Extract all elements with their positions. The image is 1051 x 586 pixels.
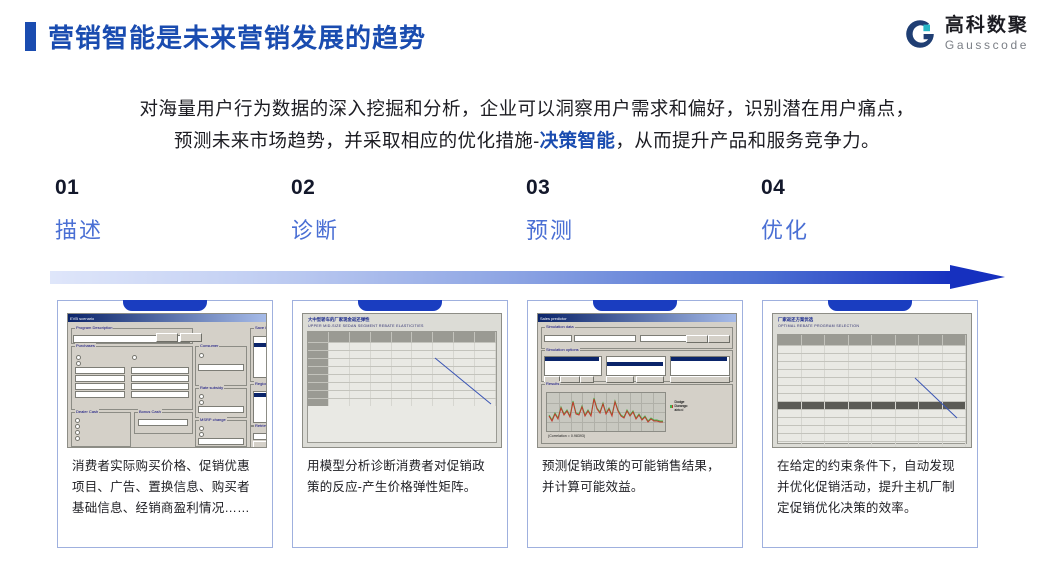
gausscode-logo-icon	[903, 17, 937, 51]
step-02-number: 02	[291, 176, 521, 200]
step-02-label: 诊断	[291, 213, 521, 245]
mini-window-title: Sales predictor	[540, 316, 567, 321]
brand-logo: 高科数聚 Gausscode	[903, 16, 1029, 51]
screenshot-elasticity-matrix: 大中型轿车的厂家现金返还弹性 UPPER MID-SIZE SEDAN SEGM…	[302, 313, 502, 448]
card-describe[interactable]: EVB scenario Program Description Purchas…	[57, 300, 273, 548]
card-predict[interactable]: Sales predictor Simulation data Simulati…	[527, 300, 743, 548]
table-title-en: OPTIMAL REBATE PROGRAM SELECTION	[778, 324, 859, 328]
card-tab	[123, 300, 207, 311]
step-01-number: 01	[55, 176, 285, 200]
card-diagnose[interactable]: 大中型轿车的厂家现金返还弹性 UPPER MID-SIZE SEDAN SEGM…	[292, 300, 508, 548]
mini-window-title: EVB scenario	[70, 316, 94, 321]
card-tab	[593, 300, 677, 311]
chart-legend-item: Dodge Durango actual	[670, 400, 690, 412]
chart-lines	[547, 393, 665, 431]
card-tab	[828, 300, 912, 311]
step-01: 01 描述	[55, 176, 285, 245]
title-text: 营销智能是未来营销发展的趋势	[48, 18, 426, 55]
card-optimize[interactable]: 厂家返还方案优选 OPTIMAL REBATE PROGRAM SELECTIO…	[762, 300, 978, 548]
progress-arrow	[50, 265, 1005, 289]
step-03-number: 03	[526, 176, 756, 200]
card-caption: 消费者实际购买价格、促销优惠项目、广告、置换信息、购买者基础信息、经销商盈利情况…	[72, 456, 260, 519]
card-caption: 在给定的约束条件下，自动发现并优化促销活动，提升主机厂制定促销优化决策的效率。	[777, 456, 965, 519]
intro-line-1: 对海量用户行为数据的深入挖掘和分析，企业可以洞察用户需求和偏好，识别潜在用户痛点…	[140, 98, 915, 119]
step-labels: 01 描述 02 诊断 03 预测 04 优化	[55, 176, 1005, 254]
logo-name-en: Gausscode	[945, 39, 1029, 51]
logo-name-cn: 高科数聚	[945, 16, 1029, 35]
step-04: 04 优化	[761, 176, 991, 245]
chart-annotation: (Correlation = 0.98393)	[548, 434, 585, 438]
page-title: 营销智能是未来营销发展的趋势	[25, 18, 426, 55]
arrow-bar	[50, 271, 955, 284]
step-03-label: 预测	[526, 213, 756, 245]
screenshot-optimal-table: 厂家返还方案优选 OPTIMAL REBATE PROGRAM SELECTIO…	[772, 313, 972, 448]
matrix-title-cn: 大中型轿车的厂家现金返还弹性	[308, 317, 369, 323]
intro-paragraph: 对海量用户行为数据的深入挖掘和分析，企业可以洞察用户需求和偏好，识别潜在用户痛点…	[52, 93, 1002, 157]
arrow-head-icon	[950, 265, 1005, 289]
card-tab	[358, 300, 442, 311]
intro-line-2a: 预测未来市场趋势，并采取相应的优化措施-	[174, 130, 540, 151]
matrix-title-en: UPPER MID-SIZE SEDAN SEGMENT REBATE ELAS…	[308, 324, 424, 328]
title-accent-bar	[25, 22, 36, 51]
step-04-number: 04	[761, 176, 991, 200]
card-caption: 用模型分析诊断消费者对促销政策的反应-产生价格弹性矩阵。	[307, 456, 495, 498]
intro-line-2b: ，从而提升产品和服务竞争力。	[615, 130, 880, 151]
table-callout-line	[913, 376, 963, 422]
screenshot-dialog-form: EVB scenario Program Description Purchas…	[67, 313, 267, 448]
card-row: EVB scenario Program Description Purchas…	[57, 300, 997, 550]
intro-highlight: 决策智能	[540, 130, 616, 151]
step-02: 02 诊断	[291, 176, 521, 245]
step-01-label: 描述	[55, 213, 285, 245]
step-03: 03 预测	[526, 176, 756, 245]
table-title-cn: 厂家返还方案优选	[778, 317, 813, 323]
screenshot-simulation-chart: Sales predictor Simulation data Simulati…	[537, 313, 737, 448]
step-04-label: 优化	[761, 213, 991, 245]
slide: 营销智能是未来营销发展的趋势 高科数聚 Gausscode 对海量用户行为数据的…	[0, 0, 1051, 586]
matrix-callout-line	[433, 356, 495, 408]
card-caption: 预测促销政策的可能销售结果，并计算可能效益。	[542, 456, 730, 498]
